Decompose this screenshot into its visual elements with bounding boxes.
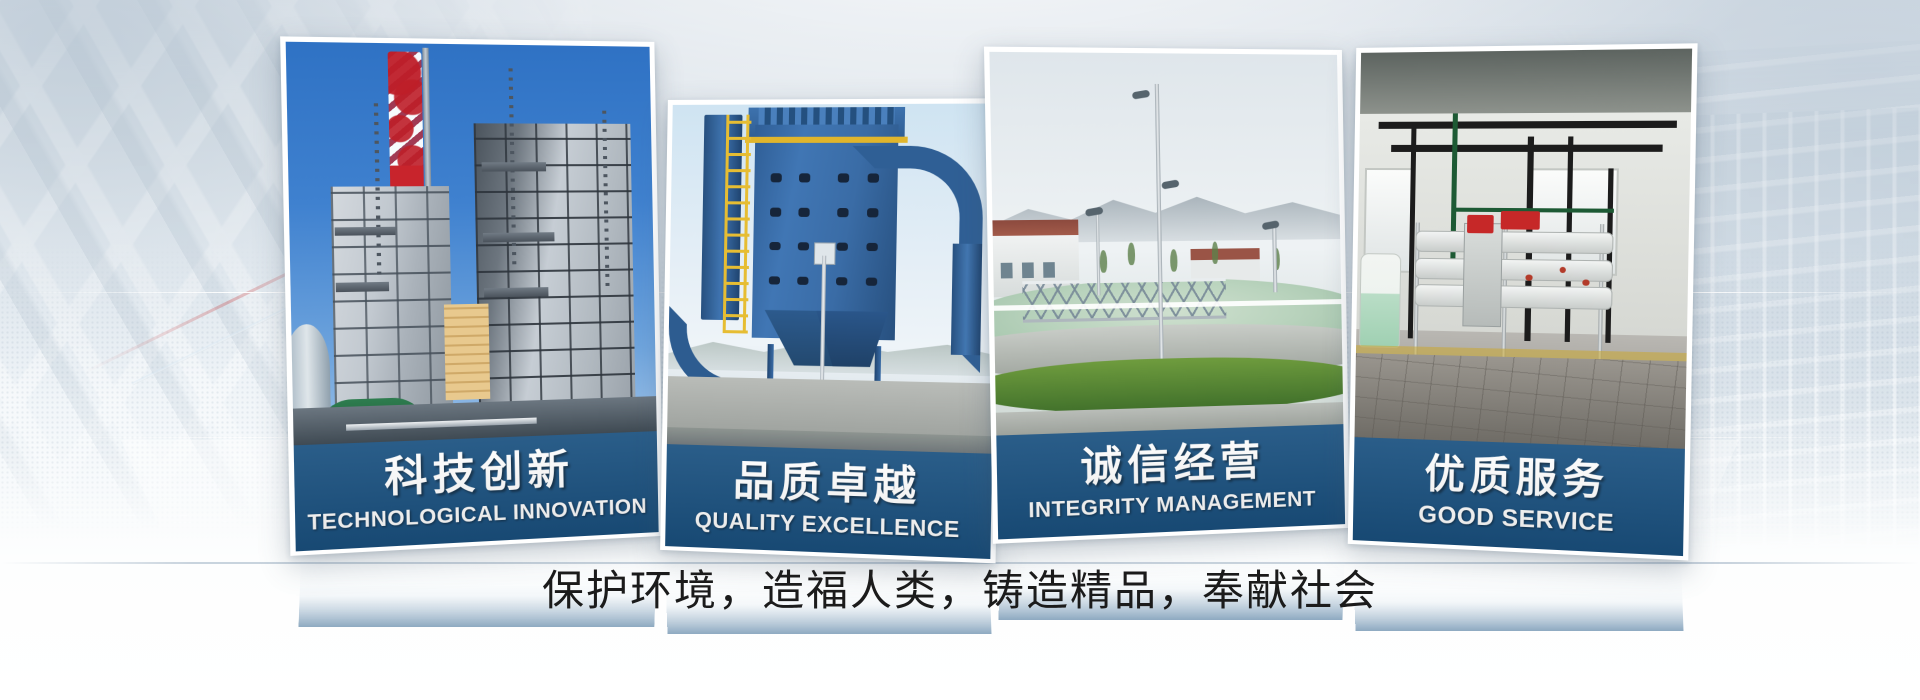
photo-wastewater-treatment-clarifier [989,52,1343,436]
caption-integrity-management: 诚信经营 INTEGRITY MANAGEMENT [996,424,1345,539]
caption-good-service: 优质服务 GOOD SERVICE [1353,437,1685,556]
caption-technological-innovation: 科技创新 TECHNOLOGICAL INNOVATION [294,431,659,551]
caption-en-text: GOOD SERVICE [1353,500,1684,539]
company-tagline: 保护环境，造福人类，铸造精品，奉献社会 [0,568,1920,614]
caption-en-text: INTEGRITY MANAGEMENT [997,487,1344,523]
caption-quality-excellence: 品质卓越 QUALITY EXCELLENCE [665,444,992,559]
photo-reverse-osmosis-water-system [1355,49,1693,449]
caption-cn-text: 优质服务 [1354,451,1685,505]
caption-en-text: QUALITY EXCELLENCE [665,508,991,542]
corporate-banner: 科技创新 TECHNOLOGICAL INNOVATION [0,0,1920,700]
photo-baghouse-dust-collector [667,103,999,453]
panel-technological-innovation[interactable]: 科技创新 TECHNOLOGICAL INNOVATION [280,36,664,556]
caption-cn-text: 品质卓越 [666,458,992,510]
caption-cn-text: 科技创新 [294,445,658,503]
caption-cn-text: 诚信经营 [997,438,1345,492]
caption-en-text: TECHNOLOGICAL INNOVATION [295,495,658,535]
panel-integrity-management[interactable]: 诚信经营 INTEGRITY MANAGEMENT [984,47,1350,544]
panel-quality-excellence[interactable]: 品质卓越 QUALITY EXCELLENCE [660,98,1004,563]
photo-desulfurization-towers [286,42,657,446]
panel-good-service[interactable]: 优质服务 GOOD SERVICE [1348,43,1698,560]
